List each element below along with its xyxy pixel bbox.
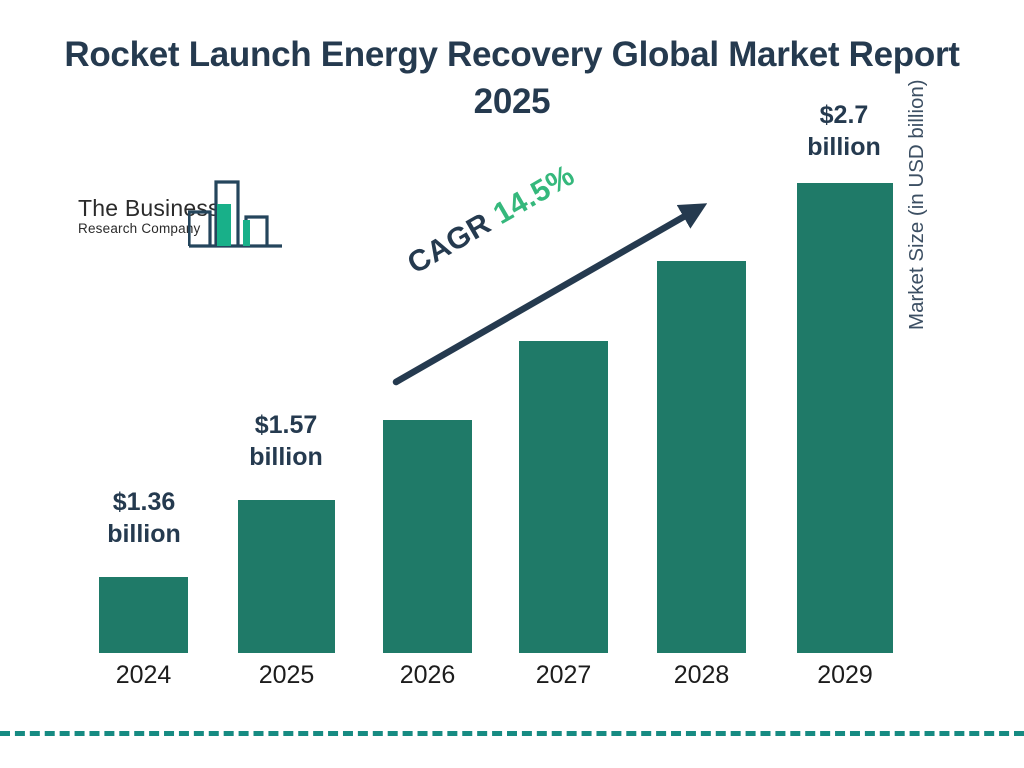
chart-canvas: Rocket Launch Energy Recovery Global Mar… (0, 0, 1024, 768)
bar-2027[interactable] (519, 341, 608, 653)
bar-2028[interactable] (657, 261, 746, 653)
y-axis-title: Market Size (in USD billion) (905, 0, 929, 330)
bottom-divider (0, 731, 1024, 736)
bar-chart-plot-area: $1.36 billion2024$1.57 billion2025202620… (0, 0, 1024, 768)
x-axis-tick-2024: 2024 (85, 661, 203, 690)
bar-2025[interactable] (238, 500, 335, 653)
x-axis-tick-2029: 2029 (786, 661, 904, 690)
x-axis-tick-2026: 2026 (369, 661, 487, 690)
bar-2026[interactable] (383, 420, 472, 653)
x-axis-tick-2028: 2028 (643, 661, 761, 690)
bar-2029[interactable] (797, 183, 893, 653)
x-axis-tick-2025: 2025 (228, 661, 346, 690)
bar-value-label-2029: $2.7 billion (785, 100, 903, 163)
x-axis-tick-2027: 2027 (505, 661, 623, 690)
bar-value-label-2025: $1.57 billion (227, 410, 345, 473)
bar-value-label-2024: $1.36 billion (85, 487, 203, 550)
bar-2024[interactable] (99, 577, 188, 653)
